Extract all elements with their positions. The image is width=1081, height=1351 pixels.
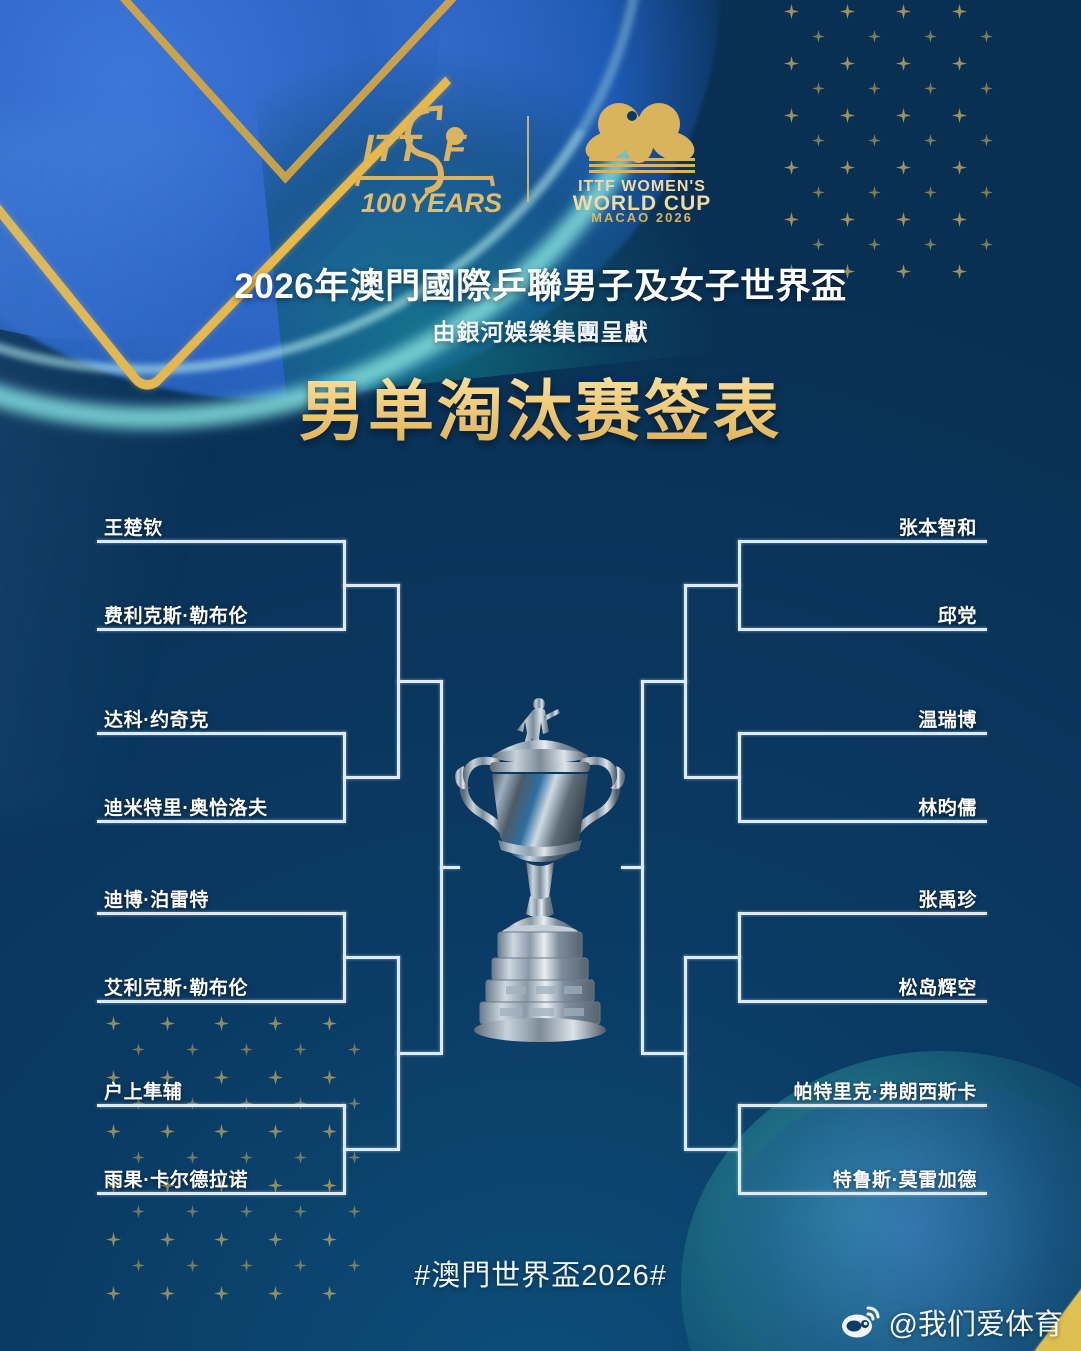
poster-root: ITT F 100 YEARS — [0, 0, 1081, 1351]
bracket-connector-line — [641, 680, 687, 683]
bracket-connector-line — [738, 628, 987, 631]
bracket-player-name[interactable]: 邱党 — [938, 601, 977, 628]
bracket-connector-line — [397, 1052, 443, 1055]
bracket-connector-line — [343, 584, 400, 587]
bracket-player-name[interactable]: 林昀儒 — [918, 793, 977, 820]
bracket-player-name[interactable]: 张本智和 — [899, 513, 977, 540]
bracket-player-name[interactable]: 达科·约奇克 — [104, 705, 209, 732]
bracket-connector-line — [738, 540, 987, 543]
bracket-player-name[interactable]: 温瑞博 — [918, 705, 977, 732]
bracket-player-name[interactable]: 艾利克斯·勒布伦 — [104, 973, 248, 1000]
bracket-player-name[interactable]: 迪博·泊雷特 — [104, 885, 209, 912]
weibo-icon — [841, 1305, 881, 1339]
bracket-connector-line — [738, 1192, 987, 1195]
bracket-player-name[interactable]: 迪米特里·奥恰洛夫 — [104, 793, 268, 820]
bracket-connector-line — [684, 776, 741, 779]
bracket-player-name[interactable]: 雨果·卡尔德拉诺 — [104, 1165, 248, 1192]
bracket-connector-line — [97, 820, 346, 823]
bracket-connector-line — [343, 956, 400, 959]
bracket-player-name[interactable]: 松岛辉空 — [899, 973, 977, 1000]
bracket-connector-line — [343, 1148, 400, 1151]
bracket-connector-line — [97, 540, 346, 543]
watermark: @我们爱体育 — [841, 1301, 1063, 1343]
bracket-connector-line — [738, 820, 987, 823]
trophy-image — [440, 690, 640, 1050]
bracket-player-name[interactable]: 张禹珍 — [918, 885, 977, 912]
bracket-connector-line — [684, 584, 741, 587]
bracket-connector-line — [738, 732, 987, 735]
bracket-player-name[interactable]: 王楚钦 — [104, 513, 163, 540]
bracket-connector-line — [738, 1000, 987, 1003]
bracket-player-name[interactable]: 户上隼辅 — [104, 1077, 182, 1104]
bracket-connector-line — [97, 732, 346, 735]
bracket-player-name[interactable]: 费利克斯·勒布伦 — [104, 601, 248, 628]
bracket-connector-line — [97, 1000, 346, 1003]
hashtag-text: #澳門世界盃2026# — [0, 1252, 1081, 1294]
bracket-diagram — [0, 0, 1081, 1351]
bracket-player-name[interactable]: 帕特里克·弗朗西斯卡 — [794, 1077, 977, 1104]
bracket-connector-line — [397, 680, 443, 683]
bracket-connector-line — [684, 1148, 741, 1151]
bracket-connector-line — [97, 912, 346, 915]
bracket-connector-line — [97, 1104, 346, 1107]
bracket-connector-line — [684, 956, 741, 959]
bracket-connector-line — [738, 1104, 987, 1107]
bracket-player-name[interactable]: 特鲁斯·莫雷加德 — [833, 1165, 977, 1192]
bracket-connector-line — [343, 776, 400, 779]
bracket-connector-line — [97, 628, 346, 631]
bracket-connector-line — [641, 1052, 687, 1055]
bracket-connector-line — [738, 912, 987, 915]
watermark-handle: @我们爱体育 — [889, 1301, 1063, 1343]
bracket-connector-line — [97, 1192, 346, 1195]
